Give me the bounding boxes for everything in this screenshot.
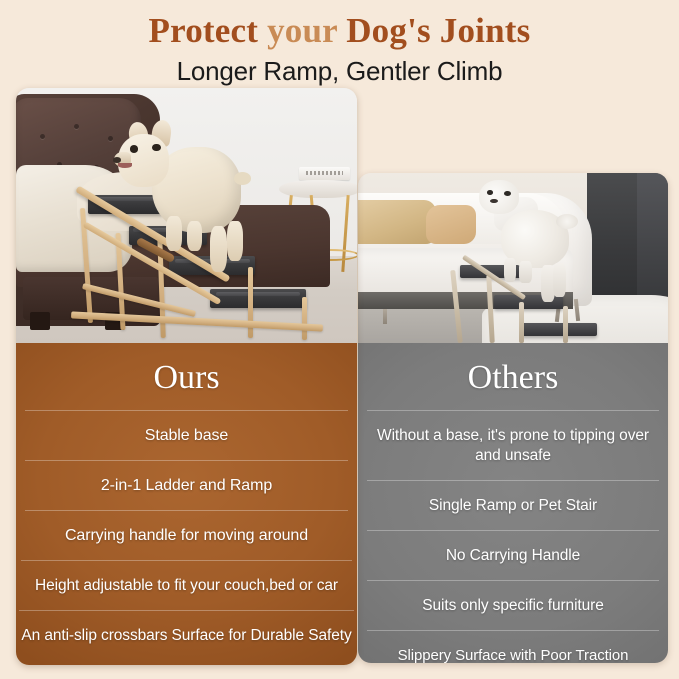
photo-recliner-foot — [30, 312, 50, 330]
photo-dog-eye — [504, 191, 511, 196]
photo-dog-leg — [166, 216, 182, 252]
others-feature-item: Without a base, it's prone to tipping ov… — [367, 410, 659, 480]
photo-frame-post — [563, 306, 568, 343]
photo-tuft — [40, 134, 45, 139]
ours-card: Ours Stable base 2-in-1 Ladder and Ramp … — [16, 88, 357, 665]
photo-frame-post — [302, 297, 307, 340]
others-panel: Others Without a base, it's prone to tip… — [358, 343, 668, 663]
photo-dog-nose — [490, 199, 498, 203]
photo-dog-tail — [556, 214, 578, 229]
photo-dog-eye — [130, 145, 138, 152]
ours-product-photo — [16, 88, 357, 343]
others-feature-item: No Carrying Handle — [367, 530, 659, 580]
photo-dog-eye — [152, 144, 160, 151]
ours-feature-item: Carrying handle for moving around — [25, 510, 348, 560]
photo-dog-leg — [553, 263, 565, 297]
photo-frame-post — [519, 302, 524, 343]
photo-stair-step — [210, 289, 305, 308]
title-word-dogs-joints: Dog's Joints — [346, 11, 530, 50]
photo-sofa-leg — [383, 309, 387, 324]
infographic-page: Protect your Dog's Joints Longer Ramp, G… — [0, 0, 679, 679]
photo-dog-leg — [210, 226, 227, 272]
ours-feature-item: An anti-slip crossbars Surface for Durab… — [19, 610, 354, 660]
title-word-protect: Protect — [149, 11, 259, 50]
ours-feature-item: Height adjustable to fit your couch,bed … — [21, 560, 352, 610]
ours-feature-list: Stable base 2-in-1 Ladder and Ramp Carry… — [16, 410, 357, 660]
photo-dog-head — [479, 180, 519, 214]
photo-pillow — [426, 205, 476, 244]
title-word-your: your — [267, 11, 337, 50]
page-title: Protect your Dog's Joints — [0, 12, 679, 51]
page-subtitle: Longer Ramp, Gentler Climb — [0, 56, 679, 87]
ours-feature-item: 2-in-1 Ladder and Ramp — [25, 460, 348, 510]
photo-pillow — [358, 200, 436, 244]
header: Protect your Dog's Joints Longer Ramp, G… — [0, 0, 679, 87]
ours-heading: Ours — [16, 343, 357, 410]
photo-tuft — [74, 124, 79, 129]
ours-panel: Ours Stable base 2-in-1 Ladder and Ramp … — [16, 343, 357, 665]
others-heading: Others — [358, 343, 668, 410]
others-feature-item: Single Ramp or Pet Stair — [367, 480, 659, 530]
photo-dog-leg — [187, 221, 202, 252]
others-feature-item: Slippery Surface with Poor Traction — [367, 630, 659, 663]
ours-feature-item: Stable base — [25, 410, 348, 460]
photo-dog-tail — [234, 172, 251, 185]
photo-stair-step — [522, 323, 596, 337]
others-feature-item: Suits only specific furniture — [367, 580, 659, 630]
photo-dog-leg — [227, 221, 243, 262]
others-feature-list: Without a base, it's prone to tipping ov… — [358, 410, 668, 663]
others-product-photo — [358, 173, 668, 343]
others-card: Others Without a base, it's prone to tip… — [358, 173, 668, 663]
photo-dog-leg — [519, 261, 531, 283]
photo-book-text — [306, 171, 344, 175]
photo-dog-leg — [504, 258, 516, 282]
